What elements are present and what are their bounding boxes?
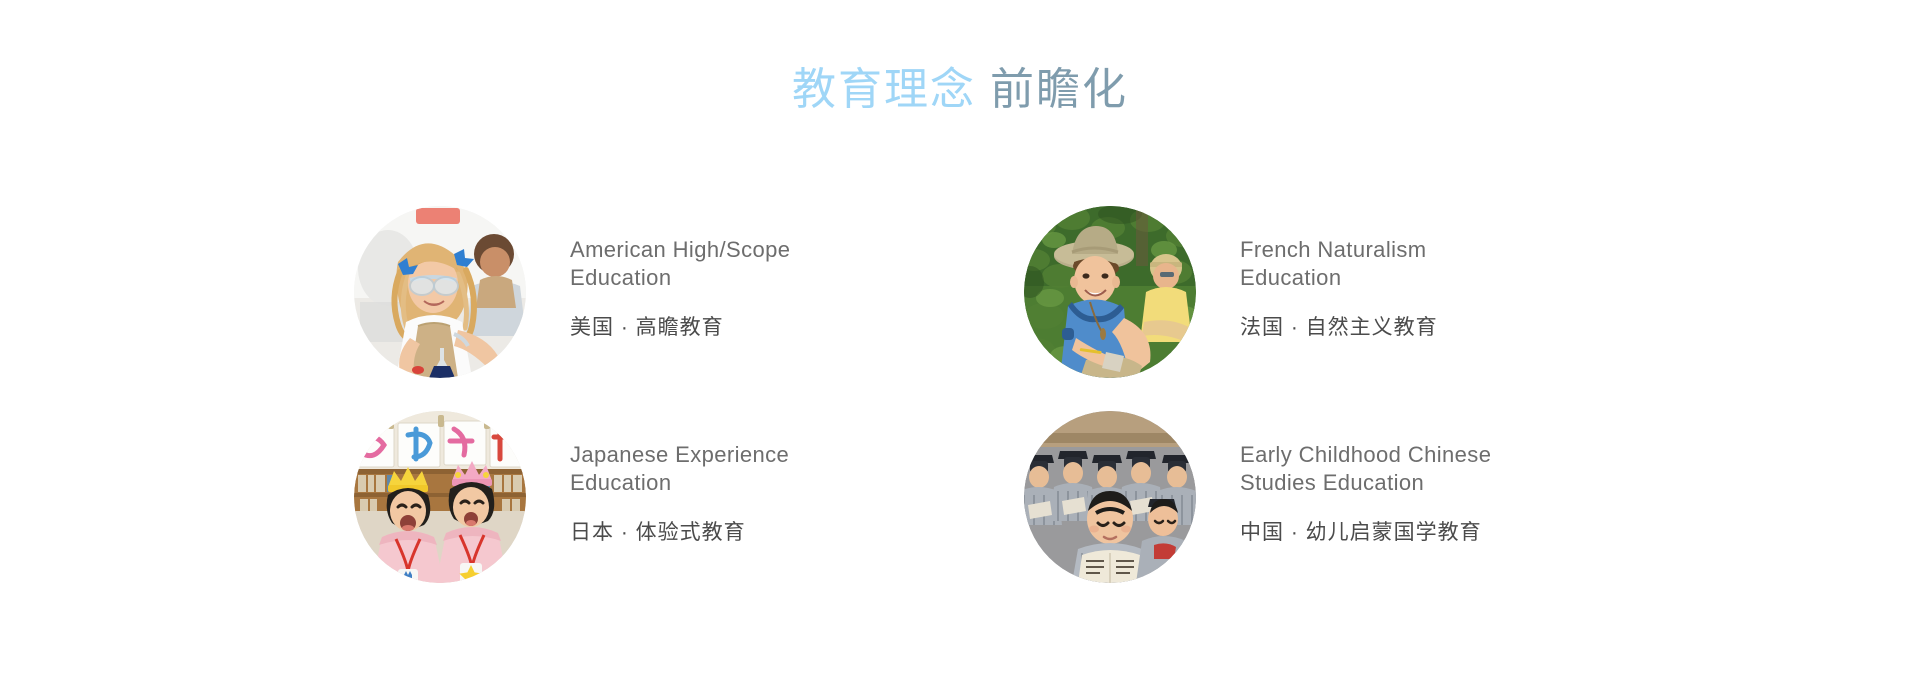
page-title: 教育理念前瞻化 — [0, 60, 1920, 120]
photo-american-highscope — [354, 206, 526, 378]
card-title-en: Early Childhood Chinese Studies Educatio… — [1240, 441, 1491, 497]
card-title-en: American High/Scope Education — [570, 236, 790, 292]
card-title-cn: 法国 · 自然主义教育 — [1240, 314, 1438, 342]
card-title-cn: 美国 · 高瞻教育 — [570, 314, 790, 342]
card-text-chinese-studies: Early Childhood Chinese Studies Educatio… — [1240, 441, 1491, 547]
card-french-naturalism[interactable]: French Naturalism Education 法国 · 自然主义教育 — [1024, 168, 1624, 373]
photo-japanese-experience — [354, 411, 526, 583]
page-title-primary: 教育理念 — [792, 65, 976, 114]
photo-french-naturalism — [1024, 206, 1196, 378]
card-text-french-naturalism: French Naturalism Education 法国 · 自然主义教育 — [1240, 236, 1438, 342]
card-japanese-experience[interactable]: Japanese Experience Education 日本 · 体验式教育 — [354, 373, 954, 578]
card-text-american-highscope: American High/Scope Education 美国 · 高瞻教育 — [570, 236, 790, 342]
card-american-highscope[interactable]: American High/Scope Education 美国 · 高瞻教育 — [354, 168, 954, 373]
card-chinese-studies[interactable]: Early Childhood Chinese Studies Educatio… — [1024, 373, 1624, 578]
photo-chinese-studies — [1024, 411, 1196, 583]
page-title-secondary: 前瞻化 — [990, 65, 1128, 114]
card-title-en: French Naturalism Education — [1240, 236, 1438, 292]
education-philosophy-grid: American High/Scope Education 美国 · 高瞻教育 — [354, 168, 1624, 578]
card-text-japanese-experience: Japanese Experience Education 日本 · 体验式教育 — [570, 441, 789, 547]
card-title-en: Japanese Experience Education — [570, 441, 789, 497]
card-title-cn: 中国 · 幼儿启蒙国学教育 — [1240, 519, 1491, 547]
card-title-cn: 日本 · 体验式教育 — [570, 519, 789, 547]
